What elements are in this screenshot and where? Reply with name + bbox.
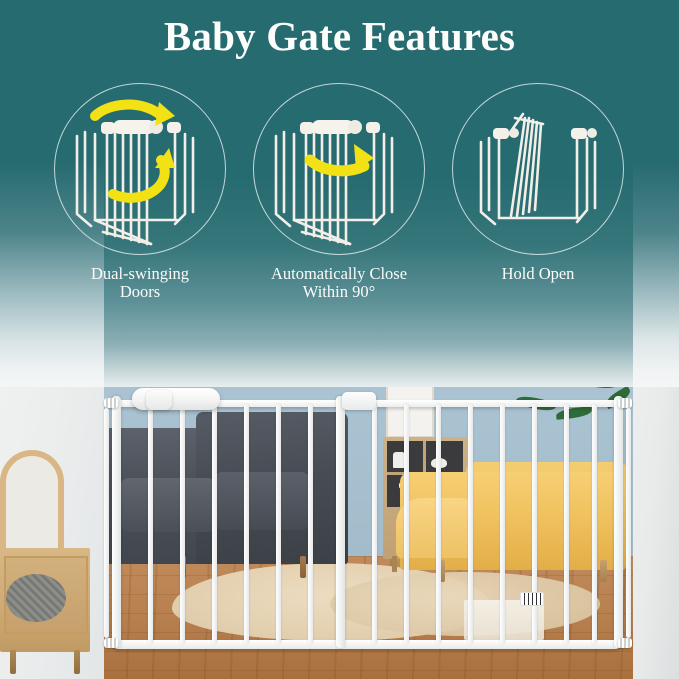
gate-lock-indicator [520, 592, 544, 606]
gate-frame-bar-left [104, 408, 109, 638]
infographic-canvas: Baby Gate Features [0, 0, 679, 679]
gate-latch[interactable] [342, 392, 376, 410]
feature-item-auto-close-90: Automatically Close Within 90° [234, 83, 444, 302]
auto-close-arrow [310, 144, 374, 171]
gate-dual-swing-icon [55, 84, 225, 254]
feature-caption-line2: Within 90° [234, 283, 444, 301]
gate-bottom-rail [114, 640, 619, 649]
feature-caption: Automatically Close Within 90° [234, 265, 444, 302]
wall-mount-bolt [618, 638, 632, 648]
feature-circle [253, 83, 425, 255]
baby-gate [104, 388, 633, 656]
feature-caption-line2: Doors [35, 283, 245, 301]
rattan-circle-detail [6, 574, 66, 622]
gate-frame-bar-right [626, 408, 631, 638]
feature-caption: Dual-swinging Doors [35, 265, 245, 302]
wall-mount-bolt [104, 398, 118, 408]
gate-slat [276, 404, 281, 644]
feature-list: Dual-swinging Doors [0, 83, 679, 313]
gate-slat [500, 404, 505, 644]
gate-slat [212, 404, 217, 644]
gate-hold-open-icon [453, 84, 623, 254]
feature-caption-line1: Hold Open [433, 265, 643, 283]
wall-mount-bolt [104, 638, 118, 648]
feature-item-hold-open: Hold Open [433, 83, 643, 283]
gate-post-left [112, 396, 121, 648]
feature-caption: Hold Open [433, 265, 643, 283]
gate-slat [436, 404, 441, 644]
gate-auto-close-icon [254, 84, 424, 254]
sideboard-leg [10, 650, 16, 674]
page-title: Baby Gate Features [0, 12, 679, 60]
feature-circle [452, 83, 624, 255]
gate-slat [468, 404, 473, 644]
gate-slat [308, 404, 313, 644]
gate-slat [564, 404, 569, 644]
wall-mount-bolt [618, 398, 632, 408]
feature-caption-line1: Automatically Close [234, 265, 444, 283]
gate-slat [148, 404, 153, 644]
feature-item-dual-swinging-doors: Dual-swinging Doors [35, 83, 245, 302]
feature-circle [54, 83, 226, 255]
feature-caption-line1: Dual-swinging [35, 265, 245, 283]
gate-slat [532, 404, 537, 644]
gate-post-center [336, 396, 345, 648]
gate-post-right [614, 396, 623, 648]
gate-slat [404, 404, 409, 644]
gate-slat [180, 404, 185, 644]
sideboard-leg [74, 650, 80, 674]
gate-slat [244, 404, 249, 644]
gate-handle-knob[interactable] [146, 390, 172, 410]
arch-mirror [0, 450, 64, 552]
gate-slat [372, 404, 377, 644]
gate-slat [592, 404, 597, 644]
gate-handle[interactable] [132, 388, 220, 410]
